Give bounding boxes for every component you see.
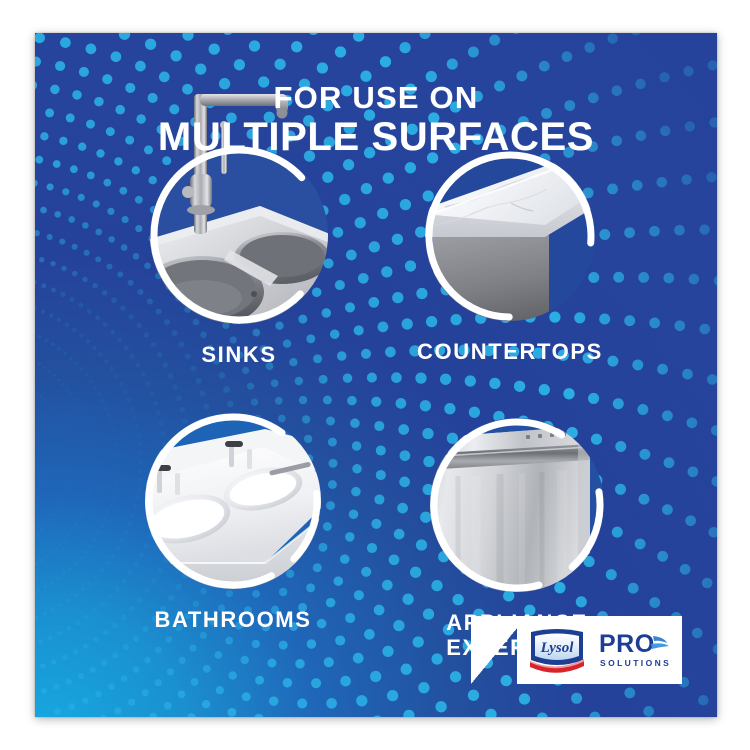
blue-panel: SINKS xyxy=(35,33,717,717)
tile-label-sinks-text: SINKS xyxy=(201,342,276,367)
appliances-ring xyxy=(430,418,604,592)
tile-appliances[interactable]: APPLIANCE EXTERIORS xyxy=(430,418,604,592)
tile-label-countertops: COUNTERTOPS xyxy=(417,339,603,364)
tile-label-countertops-text: COUNTERTOPS xyxy=(417,339,603,364)
page-title: FOR USE ON MULTIPLE SURFACES xyxy=(35,82,717,157)
sinks-ring xyxy=(150,146,328,324)
brand-logo: Lysol PRO SOLUTIONS xyxy=(517,616,682,684)
countertops-ring xyxy=(425,151,595,321)
poster-canvas: SINKS xyxy=(0,0,750,750)
headline-line-1: FOR USE ON xyxy=(35,82,717,113)
pro-solutions-logo: PRO SOLUTIONS xyxy=(597,626,673,674)
lysol-logo-icon: Lysol xyxy=(526,625,588,675)
pro-wordmark: PRO xyxy=(599,630,655,658)
tile-countertops[interactable]: COUNTERTOPS xyxy=(425,151,595,321)
bathrooms-ring xyxy=(145,413,321,589)
headline-line-2: MULTIPLE SURFACES xyxy=(35,117,717,157)
tile-label-bathrooms-text: BATHROOMS xyxy=(155,607,312,632)
tile-sinks[interactable]: SINKS xyxy=(150,146,328,324)
tile-label-bathrooms: BATHROOMS xyxy=(155,607,312,632)
tile-label-sinks: SINKS xyxy=(201,342,276,367)
solutions-wordmark: SOLUTIONS xyxy=(600,658,671,668)
lysol-wordmark: Lysol xyxy=(540,640,575,656)
tile-bathrooms[interactable]: BATHROOMS xyxy=(145,413,321,589)
